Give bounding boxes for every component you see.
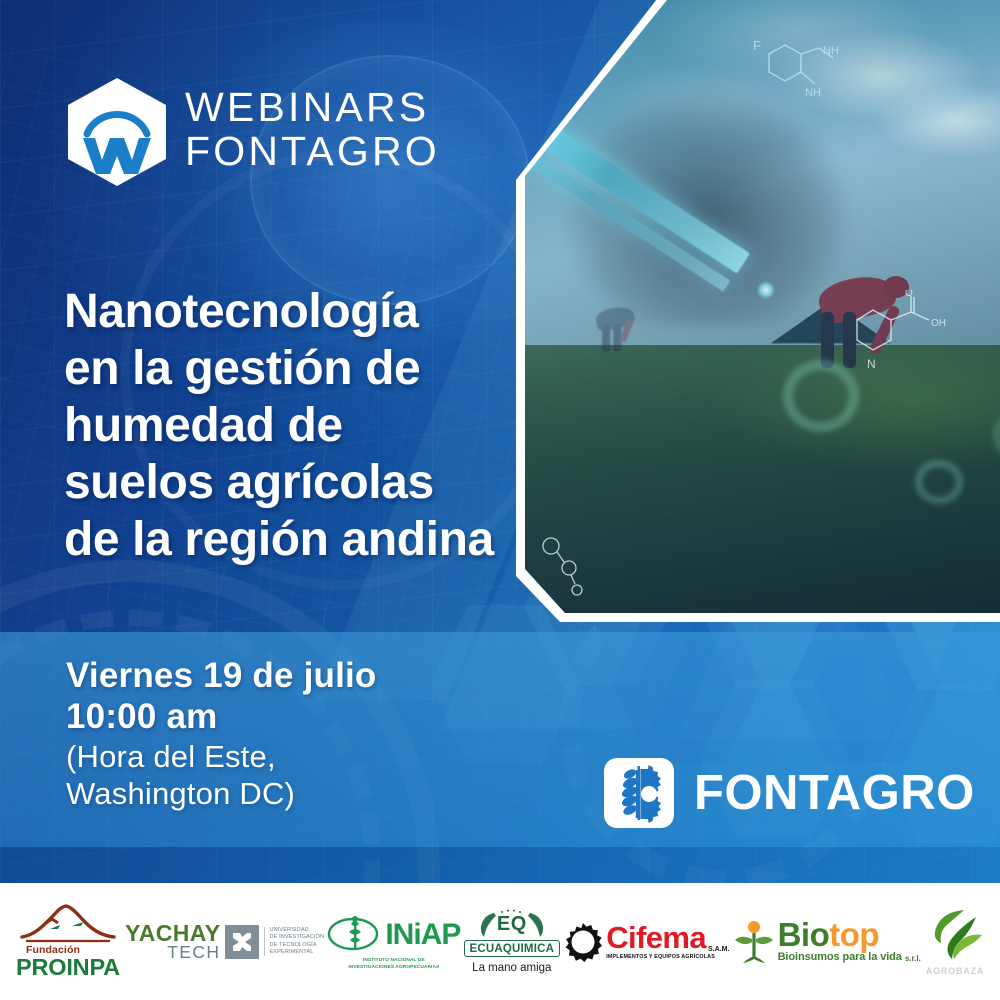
brand-line-fontagro: FONTAGRO: [185, 130, 440, 174]
yachay-name-line2: TECH: [125, 944, 220, 961]
sponsor-footer: Fundación PROINPA YACHAY TECH UNIVERSIDA…: [0, 883, 1000, 1000]
sponsor-iniap: INiAP INSTITUTO NACIONAL DE INVESTIGACIO…: [327, 912, 460, 970]
iniap-emblem-icon: [327, 912, 383, 956]
nanoparticle-ring-2: [915, 460, 963, 504]
agrobaza-name: AGROBAZA: [926, 966, 984, 976]
title-line-1: Nanotecnología: [64, 283, 664, 340]
webinars-hexagon-w-icon: [62, 76, 172, 188]
biotop-name-part1: Bio: [778, 916, 830, 953]
biotop-suffix: s.r.l.: [905, 954, 921, 963]
biotop-wordmark: Biotop Bioinsumos para la vida s.r.l.: [778, 920, 921, 962]
pipette-tip-icon: [758, 282, 774, 298]
webinar-title: Nanotecnología en la gestión de humedad …: [64, 283, 664, 569]
fontagro-logo-lockup: FONTAGRO: [604, 758, 975, 828]
yachay-name-line1: YACHAY: [125, 922, 220, 944]
yachay-desc-2: DE INVESTIGACIÓN: [269, 934, 324, 941]
yachay-desc-4: EXPERIMENTAL: [269, 949, 324, 956]
iniap-desc-2: INVESTIGACIONES AGROPECUARIAS: [348, 965, 439, 971]
sponsor-yachay-tech: YACHAY TECH UNIVERSIDAD DE INVESTIGACIÓN…: [125, 922, 324, 961]
event-time: 10:00 am: [66, 696, 377, 737]
proinpa-name: PROINPA: [16, 956, 120, 980]
title-line-3: humedad de: [64, 397, 664, 454]
event-datetime: Viernes 19 de julio 10:00 am (Hora del E…: [66, 655, 377, 812]
molecule-diagram-2: N O OH: [843, 290, 953, 386]
cifema-suffix: S.A.M.: [708, 946, 729, 953]
event-timezone-line2: Washington DC): [66, 775, 377, 812]
yachay-wordmark: YACHAY TECH: [125, 922, 220, 961]
brand-line-webinars: WEBINARS: [185, 86, 440, 130]
biotop-name-part2: top: [829, 916, 879, 953]
yachay-desc-3: DE TECNOLOGÍA: [269, 942, 324, 949]
fontagro-wordmark: FONTAGRO: [694, 765, 975, 821]
title-line-4: suelos agrícolas: [64, 454, 664, 511]
svg-text:F: F: [753, 38, 761, 53]
iniap-description: INSTITUTO NACIONAL DE INVESTIGACIONES AG…: [348, 958, 439, 970]
title-line-2: en la gestión de: [64, 340, 664, 397]
fontagro-wheat-gear-icon: [604, 758, 674, 828]
sponsor-biotop: Biotop Bioinsumos para la vida s.r.l.: [733, 920, 921, 964]
svg-text:O: O: [905, 290, 913, 299]
iniap-name: INiAP: [385, 922, 460, 948]
cifema-description: IMPLEMENTOS Y EQUIPOS AGRÍCOLAS: [606, 955, 729, 960]
svg-text:N: N: [867, 357, 876, 371]
plant-person-icon: [733, 920, 775, 964]
sponsor-cifema: Cifema S.A.M. IMPLEMENTOS Y EQUIPOS AGRÍ…: [563, 922, 729, 962]
svg-text:NH: NH: [823, 45, 839, 57]
svg-text:NH: NH: [805, 87, 821, 99]
event-timezone-line1: (Hora del Este,: [66, 738, 377, 775]
date-band-lower-edge: [0, 847, 1000, 883]
cifema-wordmark: Cifema S.A.M. IMPLEMENTOS Y EQUIPOS AGRÍ…: [606, 922, 729, 960]
laurel-wreath-icon: [472, 909, 552, 939]
sponsor-ecuaquimica: EQ ECUAQUIMICA La mano amiga: [464, 909, 561, 974]
brand-wordmark: WEBINARS FONTAGRO: [185, 86, 440, 174]
gear-icon: [563, 922, 603, 962]
green-leaf-swirl-icon: [924, 907, 986, 965]
ecuaquimica-slogan: La mano amiga: [472, 962, 551, 974]
cifema-name: Cifema: [606, 922, 706, 953]
sponsor-agrobaza: AGROBAZA: [924, 907, 986, 976]
mountain-icon: [16, 903, 120, 943]
sponsor-proinpa: Fundación PROINPA: [14, 903, 122, 980]
biotop-slogan: Bioinsumos para la vida: [778, 951, 902, 963]
yachay-description: UNIVERSIDAD DE INVESTIGACIÓN DE TECNOLOG…: [264, 927, 324, 957]
event-date: Viernes 19 de julio: [66, 655, 377, 696]
webinar-poster: F NH NH N O OH: [0, 0, 1000, 1000]
yachay-cube-icon: [225, 925, 259, 959]
svg-text:OH: OH: [931, 318, 946, 329]
title-line-5: de la región andina: [64, 511, 664, 568]
ecuaquimica-name: ECUAQUIMICA: [464, 940, 561, 957]
molecule-diagram-1: F NH NH: [747, 28, 863, 120]
